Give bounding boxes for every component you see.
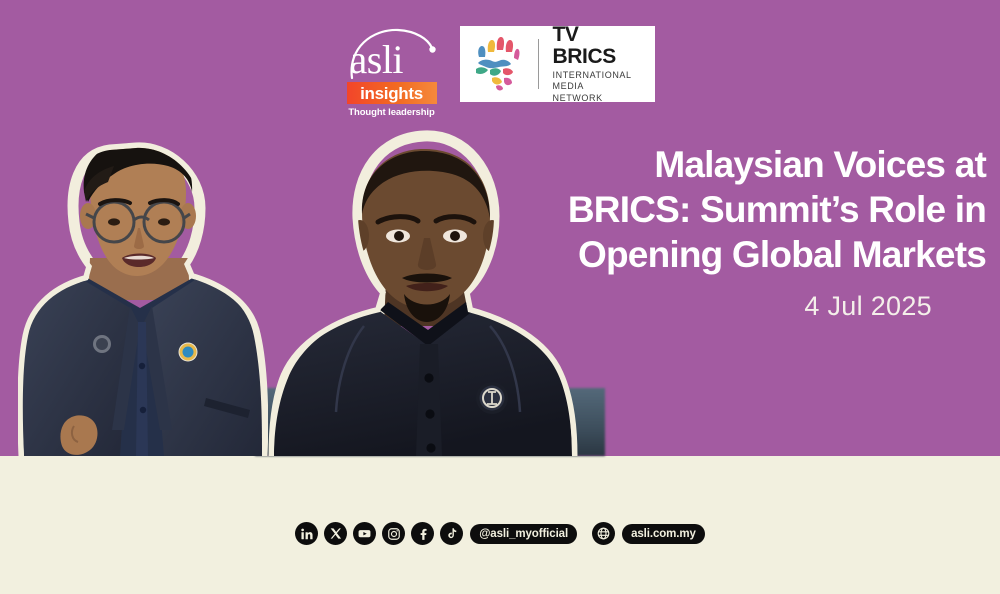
poster-canvas: asli insights Thought leadership <box>0 0 1000 594</box>
headline-line-1: Malaysian Voices at <box>516 142 986 187</box>
insights-badge-label: insights <box>360 85 423 102</box>
social-handle-pill[interactable]: @asli_myofficial <box>470 524 577 544</box>
tvbrics-subtitle-line-1: INTERNATIONAL <box>553 70 647 82</box>
footer-bar: @asli_myofficial asli.com.my <box>0 456 1000 594</box>
headline-block: Malaysian Voices at BRICS: Summit’s Role… <box>516 142 986 322</box>
linkedin-icon[interactable] <box>295 522 318 545</box>
tvbrics-subtitle-line-3: NETWORK <box>553 93 647 105</box>
insights-badge: insights <box>347 82 437 104</box>
tvbrics-subtitle-line-2: MEDIA <box>553 81 647 93</box>
brics-hand-map-icon <box>468 33 530 95</box>
speaker-left-illustration <box>18 130 268 456</box>
social-links-strip: @asli_myofficial asli.com.my <box>0 522 1000 545</box>
tvbrics-subtitle: INTERNATIONAL MEDIA NETWORK <box>553 70 647 105</box>
tiktok-icon[interactable] <box>440 522 463 545</box>
poster-headline: Malaysian Voices at BRICS: Summit’s Role… <box>516 142 986 277</box>
headline-line-3: Opening Global Markets <box>516 232 986 277</box>
tvbrics-text-block: TV BRICS INTERNATIONAL MEDIA NETWORK <box>547 24 647 105</box>
facebook-icon[interactable] <box>411 522 434 545</box>
x-twitter-icon[interactable] <box>324 522 347 545</box>
globe-icon[interactable] <box>592 522 615 545</box>
tvbrics-divider <box>538 39 539 89</box>
tvbrics-title: TV BRICS <box>553 24 647 68</box>
instagram-icon[interactable] <box>382 522 405 545</box>
event-date: 4 Jul 2025 <box>516 291 986 322</box>
headline-line-2: BRICS: Summit’s Role in <box>516 187 986 232</box>
asli-wordmark: asli <box>350 40 404 80</box>
speaker-photo-left <box>18 130 268 456</box>
tvbrics-logo: TV BRICS INTERNATIONAL MEDIA NETWORK <box>460 26 655 102</box>
asli-insights-logo: asli insights Thought leadership <box>346 26 438 126</box>
youtube-icon[interactable] <box>353 522 376 545</box>
website-pill[interactable]: asli.com.my <box>622 524 705 544</box>
asli-tagline: Thought leadership <box>346 107 438 118</box>
logo-row: asli insights Thought leadership <box>0 26 1000 136</box>
